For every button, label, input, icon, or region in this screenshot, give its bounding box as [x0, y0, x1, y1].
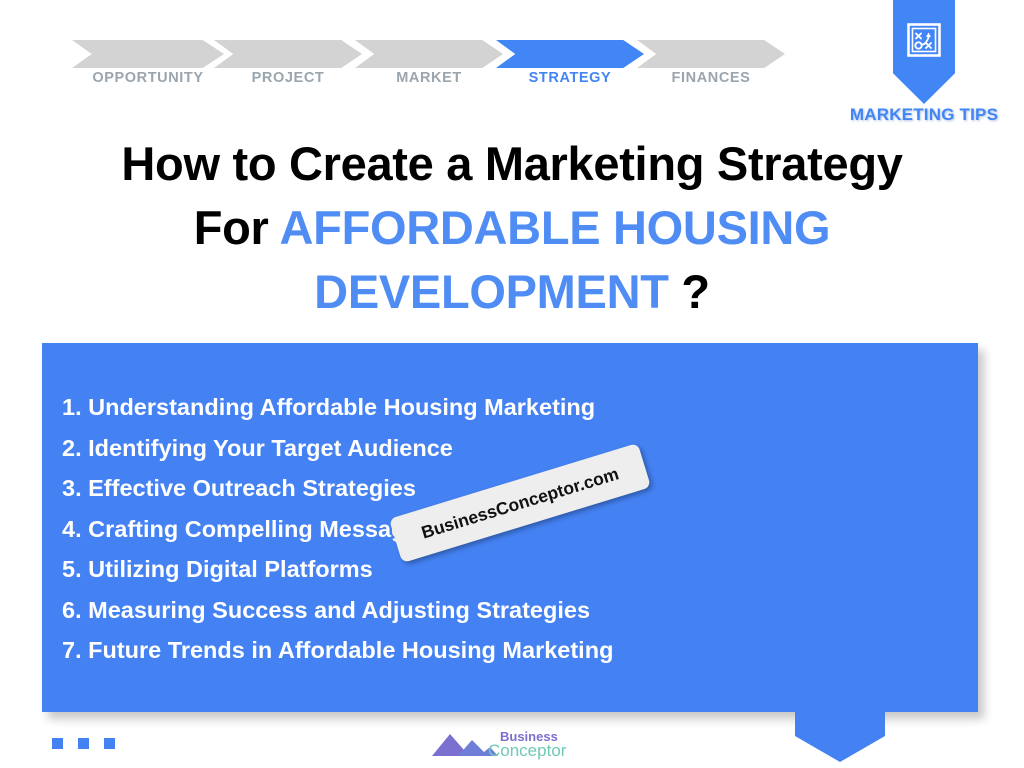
title-line-2: For AFFORDABLE HOUSING — [70, 196, 954, 260]
breadcrumb-step-label: MARKET — [355, 70, 503, 86]
breadcrumb-step-market[interactable]: MARKET — [355, 40, 503, 92]
breadcrumb-step-strategy[interactable]: STRATEGY — [496, 40, 644, 92]
breadcrumb-step-finances[interactable]: FINANCES — [637, 40, 785, 92]
page-title: How to Create a Marketing Strategy For A… — [70, 132, 954, 324]
breadcrumb-step-label: PROJECT — [214, 70, 362, 86]
breadcrumb-step-label: STRATEGY — [496, 70, 644, 86]
chevron-shape-icon — [637, 40, 785, 68]
title-line-3: DEVELOPMENT ? — [70, 260, 954, 324]
logo-word-conceptor: Conceptor — [488, 741, 567, 760]
title-line-1: How to Create a Marketing Strategy — [70, 132, 954, 196]
breadcrumb-step-label: OPPORTUNITY — [72, 70, 224, 86]
bottom-pennant-shape — [795, 700, 885, 762]
square-dot-icon — [78, 738, 89, 749]
list-item: 6. Measuring Success and Adjusting Strat… — [52, 590, 968, 631]
title-line-3-suffix: ? — [669, 265, 710, 318]
list-item: 7. Future Trends in Affordable Housing M… — [52, 630, 968, 671]
list-item: 5. Utilizing Digital Platforms — [52, 549, 968, 590]
slide-canvas: OPPORTUNITY PROJECT MARKET STRATEGY FINA… — [0, 0, 1024, 768]
square-dot-icon — [52, 738, 63, 749]
footer-logo: Business Conceptor — [428, 726, 598, 764]
chevron-shape-icon — [214, 40, 362, 68]
title-line-3-highlight: DEVELOPMENT — [314, 265, 668, 318]
list-item: 1. Understanding Affordable Housing Mark… — [52, 387, 968, 428]
list-item: 2. Identifying Your Target Audience — [52, 428, 968, 469]
breadcrumb-step-project[interactable]: PROJECT — [214, 40, 362, 92]
marketing-tips-label: MARKETING TIPS — [848, 105, 1000, 125]
square-dot-icon — [104, 738, 115, 749]
breadcrumb-step-label: FINANCES — [637, 70, 785, 86]
title-line-2-prefix: For — [194, 201, 280, 254]
chevron-shape-icon — [72, 40, 224, 68]
strategy-playbook-icon — [904, 20, 944, 60]
chevron-shape-icon — [355, 40, 503, 68]
breadcrumb-step-opportunity[interactable]: OPPORTUNITY — [72, 40, 224, 92]
breadcrumb: OPPORTUNITY PROJECT MARKET STRATEGY FINA… — [72, 40, 812, 92]
title-line-2-highlight: AFFORDABLE HOUSING — [280, 201, 831, 254]
chevron-shape-icon — [496, 40, 644, 68]
business-conceptor-logo-icon: Business Conceptor — [428, 726, 598, 764]
decorative-dots — [52, 738, 115, 749]
marketing-tips-badge — [893, 0, 955, 104]
